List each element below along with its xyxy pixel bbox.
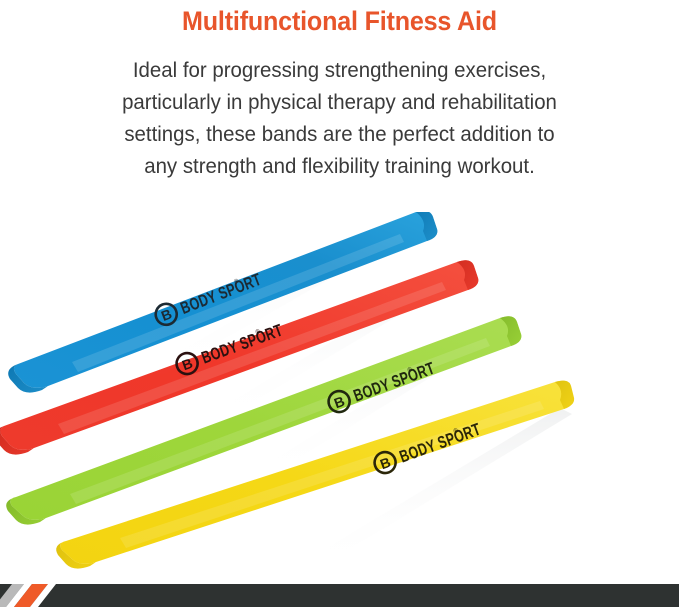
description-line-4: any strength and flexibility training wo… (57, 150, 622, 182)
description-line-3: settings, these bands are the perfect ad… (57, 118, 622, 150)
footer-background (0, 584, 679, 607)
product-photo: B BODY SPORT ® B BODY SPORT ® B (0, 212, 679, 584)
description-line-2: particularly in physical therapy and reh… (57, 86, 622, 118)
page-title: Multifunctional Fitness Aid (24, 6, 655, 37)
description-paragraph: Ideal for progressing strengthening exer… (57, 54, 622, 182)
footer-bar (0, 584, 679, 607)
product-marketing-image: Multifunctional Fitness Aid Ideal for pr… (0, 0, 679, 607)
description-line-1: Ideal for progressing strengthening exer… (57, 54, 622, 86)
